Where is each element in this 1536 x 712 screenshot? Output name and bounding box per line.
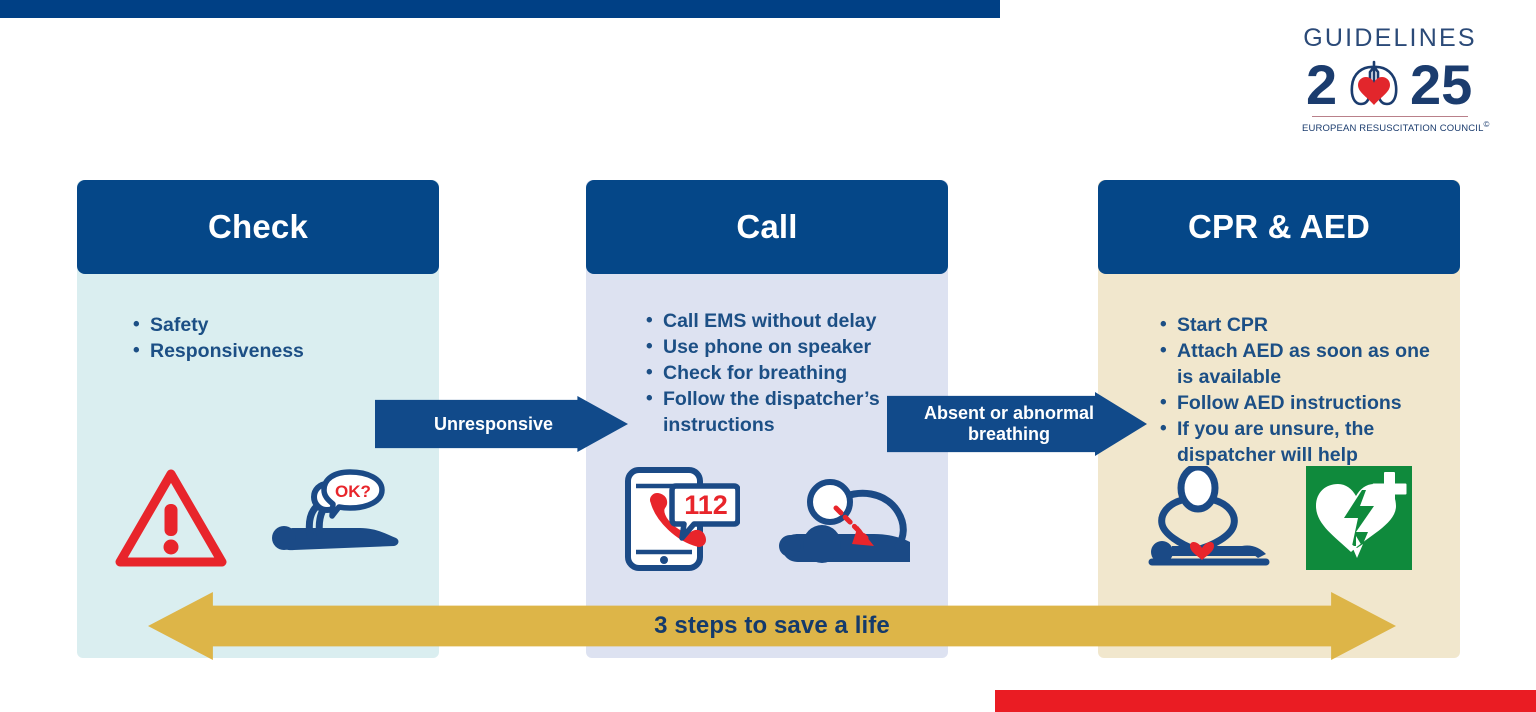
connector-arrow-unresponsive: Unresponsive (375, 396, 628, 452)
connector-label-abnormal-breathing: Absent or abnormalbreathing (924, 403, 1110, 445)
list-item: Attach AED as soon as one is available (1160, 338, 1438, 390)
connector-arrow-abnormal-breathing: Absent or abnormalbreathing (887, 392, 1147, 456)
connector-label-unresponsive: Unresponsive (434, 414, 569, 435)
connector-label-line2: breathing (968, 424, 1050, 444)
column-cpr-aed: CPR & AED Start CPR Attach AED as soon a… (1098, 180, 1460, 658)
three-steps-banner-label: 3 steps to save a life (654, 612, 890, 640)
column-call-icons: 112 (586, 462, 948, 574)
column-cpr-aed-header: CPR & AED (1098, 180, 1460, 274)
top-accent-bar (0, 0, 1000, 18)
check-breathing-icon (774, 466, 914, 570)
list-item: Follow AED instructions (1160, 390, 1438, 416)
list-item: Responsiveness (133, 338, 417, 364)
svg-text:2: 2 (1306, 54, 1337, 112)
list-item: Start CPR (1160, 312, 1438, 338)
svg-text:112: 112 (684, 490, 728, 520)
aed-sign-icon (1306, 466, 1412, 570)
column-call-title: Call (736, 208, 797, 246)
svg-text:OK?: OK? (335, 482, 371, 501)
list-item: Use phone on speaker (646, 334, 926, 360)
lungs-icon (1352, 62, 1396, 105)
erc-logo: GUIDELINES 2 25 EUROPEAN RESUSCITATION C… (1302, 26, 1478, 134)
connector-label-line1: Absent or abnormal (924, 403, 1094, 423)
logo-divider (1312, 116, 1468, 117)
logo-year-svg: 2 25 (1302, 54, 1478, 112)
svg-text:25: 25 (1410, 54, 1472, 112)
slide-canvas: GUIDELINES 2 25 EUROPEAN RESUSCITATION C… (0, 0, 1536, 712)
column-cpr-aed-icons (1098, 462, 1460, 574)
list-item: Check for breathing (646, 360, 926, 386)
column-call-header: Call (586, 180, 948, 274)
logo-guidelines-text: GUIDELINES (1302, 26, 1478, 51)
phone-emergency-icon: 112 (620, 464, 740, 572)
list-item: Safety (133, 312, 417, 338)
column-check-icons: OK? (77, 462, 439, 574)
column-check-title: Check (208, 208, 308, 246)
logo-year-graphic: 2 25 (1302, 54, 1478, 112)
logo-council-text: EUROPEAN RESUSCITATION COUNCIL© (1302, 120, 1478, 134)
registered-mark: © (1484, 120, 1490, 129)
column-cpr-aed-bullets: Start CPR Attach AED as soon as one is a… (1098, 282, 1460, 468)
list-item: If you are unsure, the dispatcher will h… (1160, 416, 1438, 468)
logo-council-label: EUROPEAN RESUSCITATION COUNCIL (1302, 123, 1484, 134)
list-item: Follow the dispatcher’s instructions (646, 386, 926, 438)
column-check-bullets: Safety Responsiveness (77, 282, 439, 364)
warning-triangle-icon (112, 466, 230, 570)
speech-bubble-ok: OK? (324, 472, 382, 516)
column-cpr-aed-title: CPR & AED (1188, 208, 1370, 246)
column-check-header: Check (77, 180, 439, 274)
bottom-accent-bar (995, 690, 1536, 712)
list-item: Call EMS without delay (646, 308, 926, 334)
cpr-compressions-icon (1146, 466, 1272, 570)
check-responsiveness-icon: OK? (264, 466, 404, 570)
